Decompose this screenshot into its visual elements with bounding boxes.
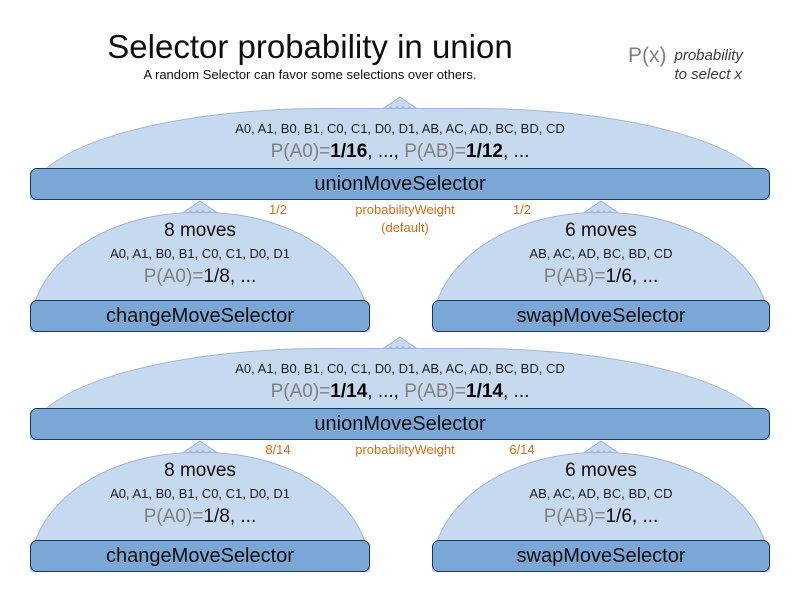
swap-moves-count-2: 6 moves — [432, 460, 770, 482]
union-prob-key-3: P(A0)= — [271, 381, 331, 402]
union-prob-tail-1: , ... — [503, 141, 529, 162]
swap-prob-value-2: 1/6, ... — [605, 506, 658, 527]
change-prob-key-2: P(A0)= — [144, 506, 204, 527]
swap-moves-count-1: 6 moves — [432, 220, 770, 242]
union-prob-separator-1: , ..., — [367, 141, 404, 162]
legend-description-line2: to select x — [675, 65, 743, 84]
union-prob-separator-2: , ..., — [367, 381, 404, 402]
union-prob-key-2: P(AB)= — [404, 141, 466, 162]
swap-prob-value-1: 1/6, ... — [605, 266, 658, 287]
union-prob-key-1: P(A0)= — [271, 141, 331, 162]
union-bar-2[interactable]: unionMoveSelector — [30, 408, 770, 440]
union-prob-value-3: 1/14 — [330, 381, 367, 402]
swap-probability-2: P(AB)=1/6, ... — [432, 506, 770, 528]
diagram-header: Selector probability in union A random S… — [0, 28, 800, 98]
change-moves-count-1: 8 moves — [30, 220, 370, 242]
union-probability-1: P(A0)=1/16, ..., P(AB)=1/12, ... — [30, 141, 770, 163]
change-probability-1: P(A0)=1/8, ... — [30, 266, 370, 288]
change-move-list-2: A0, A1, B0, B1, C0, C1, D0, D1 — [30, 486, 370, 502]
change-moves-count-2: 8 moves — [30, 460, 370, 482]
change-probability-2: P(A0)=1/8, ... — [30, 506, 370, 528]
union-bar-1[interactable]: unionMoveSelector — [30, 168, 770, 200]
page-title: Selector probability in union — [0, 28, 620, 66]
swap-prob-key-2: P(AB)= — [544, 506, 606, 527]
union-node-2: A0, A1, B0, B1, C0, C1, D0, D1, AB, AC, … — [30, 348, 770, 440]
legend: P(x) probability to select x — [628, 44, 743, 84]
legend-key: P(x) — [628, 44, 667, 68]
swap-move-list-1: AB, AC, AD, BC, BD, CD — [432, 246, 770, 262]
legend-description-line1: probability — [675, 46, 743, 65]
legend-description: probability to select x — [675, 44, 743, 84]
swap-move-selector-bar-1[interactable]: swapMoveSelector — [432, 300, 770, 332]
swap-move-selector-node-2: 6 moves AB, AC, AD, BC, BD, CD P(AB)=1/6… — [432, 452, 770, 572]
union-prob-value-2: 1/12 — [466, 141, 503, 162]
change-prob-key-1: P(A0)= — [144, 266, 204, 287]
swap-move-selector-node-1: 6 moves AB, AC, AD, BC, BD, CD P(AB)=1/6… — [432, 212, 770, 332]
union-prob-value-4: 1/14 — [466, 381, 503, 402]
union-move-list-1: A0, A1, B0, B1, C0, C1, D0, D1, AB, AC, … — [30, 121, 770, 137]
swap-move-list-2: AB, AC, AD, BC, BD, CD — [432, 486, 770, 502]
union-probability-2: P(A0)=1/14, ..., P(AB)=1/14, ... — [30, 381, 770, 403]
swap-prob-key-1: P(AB)= — [544, 266, 606, 287]
union-move-list-2: A0, A1, B0, B1, C0, C1, D0, D1, AB, AC, … — [30, 361, 770, 377]
change-move-list-1: A0, A1, B0, B1, C0, C1, D0, D1 — [30, 246, 370, 262]
change-move-selector-bar-2[interactable]: changeMoveSelector — [30, 540, 370, 572]
union-node-1: A0, A1, B0, B1, C0, C1, D0, D1, AB, AC, … — [30, 108, 770, 200]
swap-move-selector-bar-2[interactable]: swapMoveSelector — [432, 540, 770, 572]
change-move-selector-bar-1[interactable]: changeMoveSelector — [30, 300, 370, 332]
change-prob-value-1: 1/8, ... — [203, 266, 256, 287]
change-prob-value-2: 1/8, ... — [203, 506, 256, 527]
change-move-selector-node-2: 8 moves A0, A1, B0, B1, C0, C1, D0, D1 P… — [30, 452, 370, 572]
union-prob-value-1: 1/16 — [330, 141, 367, 162]
page-subtitle: A random Selector can favor some selecti… — [0, 66, 620, 83]
union-prob-key-4: P(AB)= — [404, 381, 466, 402]
change-move-selector-node-1: 8 moves A0, A1, B0, B1, C0, C1, D0, D1 P… — [30, 212, 370, 332]
swap-probability-1: P(AB)=1/6, ... — [432, 266, 770, 288]
union-prob-tail-2: , ... — [503, 381, 529, 402]
